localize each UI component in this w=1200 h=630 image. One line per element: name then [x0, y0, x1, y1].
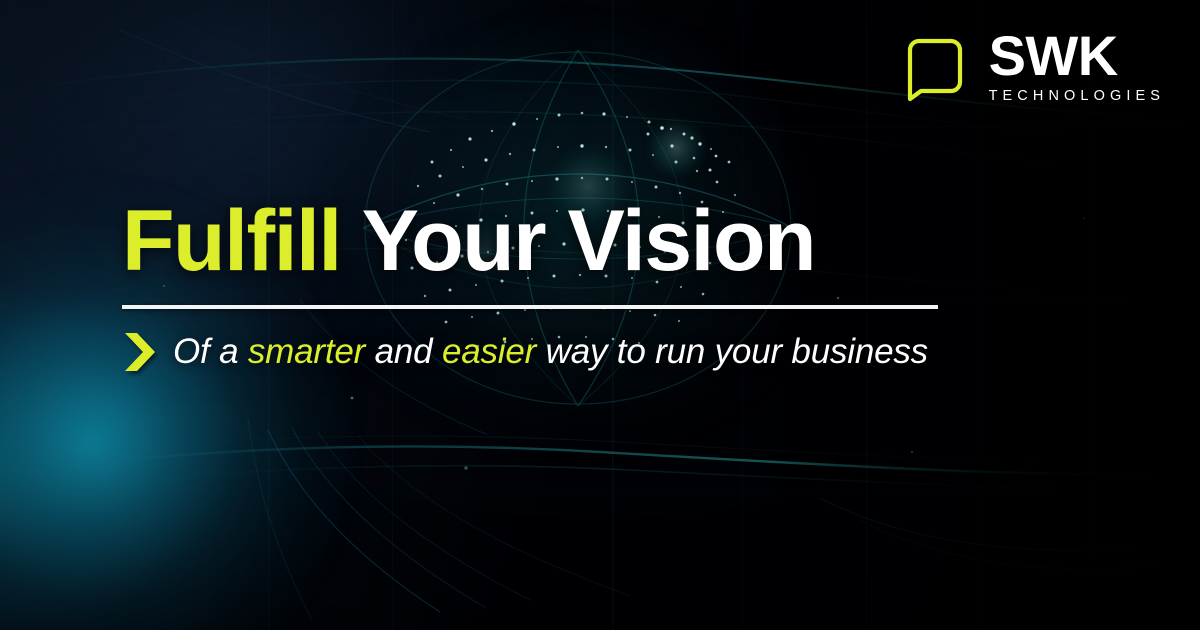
- subtitle-part-5: way to run your business: [536, 332, 928, 371]
- headline-block: Fulfill Your Vision Of a smarter and eas…: [122, 198, 1182, 373]
- swk-speech-bubble-mark: [899, 30, 971, 102]
- subtitle-part-3: and: [365, 332, 442, 371]
- subtitle-row: Of a smarter and easier way to run your …: [122, 331, 1182, 373]
- subtitle-accent-easier: easier: [442, 332, 536, 371]
- headline-space: [341, 193, 362, 289]
- swk-wordmark: SWK: [989, 30, 1166, 82]
- headline-white-words: Your Vision: [362, 193, 815, 289]
- horizontal-rule: [122, 305, 938, 309]
- swk-logo-text: SWK TECHNOLOGIES: [989, 28, 1166, 103]
- headline-accent-word: Fulfill: [122, 193, 341, 289]
- swk-tagline: TECHNOLOGIES: [989, 89, 1166, 104]
- page-title: Fulfill Your Vision: [122, 198, 1182, 284]
- subtitle-accent-smarter: smarter: [248, 332, 365, 371]
- marketing-banner: SWK TECHNOLOGIES Fulfill Your Vision Of …: [0, 0, 1200, 630]
- chevron-right-icon: [122, 331, 156, 373]
- page-subtitle: Of a smarter and easier way to run your …: [173, 333, 928, 372]
- subtitle-part-1: Of a: [173, 332, 248, 371]
- swk-logo[interactable]: SWK TECHNOLOGIES: [899, 28, 1166, 103]
